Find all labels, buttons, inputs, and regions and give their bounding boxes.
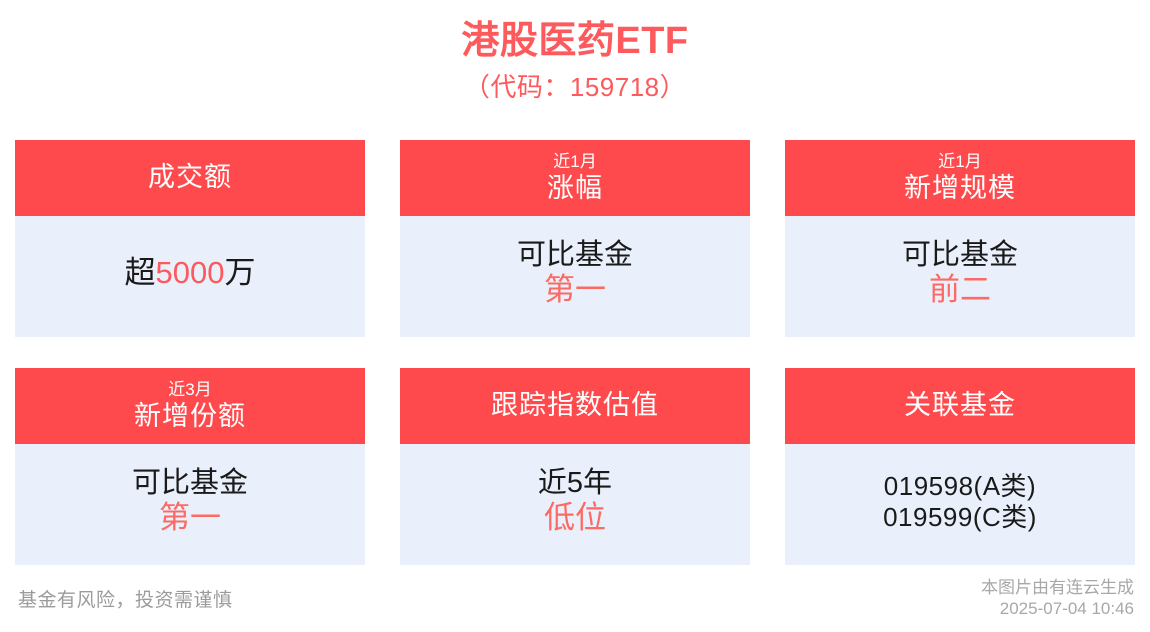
card-body-1m-return: 可比基金 第一 <box>400 216 750 337</box>
page-header: 港股医药ETF （代码：159718） <box>0 0 1150 106</box>
card-header-period: 近1月 <box>553 152 596 172</box>
card-body-index-valuation: 近5年 低位 <box>400 444 750 565</box>
page-subtitle-code: （代码：159718） <box>0 68 1150 106</box>
page-footer: 基金有风险，投资需谨慎 本图片由有连云生成 2025-07-04 10:46 <box>0 572 1150 632</box>
credit-source: 本图片由有连云生成 <box>981 577 1134 598</box>
stat-card-linked-funds: 关联基金 019598(A类) 019599(C类) <box>785 368 1135 565</box>
page-title: 港股医药ETF <box>0 18 1150 64</box>
card-header-index-valuation: 跟踪指数估值 <box>400 368 750 444</box>
card-value-rank: 第一 <box>544 272 606 309</box>
stat-card-turnover: 成交额 超5000万 <box>15 140 365 337</box>
generation-credit: 本图片由有连云生成 2025-07-04 10:46 <box>981 577 1134 620</box>
card-body-3m-share-growth: 可比基金 第一 <box>15 444 365 565</box>
card-header-1m-return: 近1月 涨幅 <box>400 140 750 216</box>
card-header-3m-share-growth: 近3月 新增份额 <box>15 368 365 444</box>
card-body-1m-aum-growth: 可比基金 前二 <box>785 216 1135 337</box>
stat-card-3m-share-growth: 近3月 新增份额 可比基金 第一 <box>15 368 365 565</box>
card-value-rank: 第一 <box>159 500 221 537</box>
card-header-title: 成交额 <box>148 162 232 193</box>
card-body-linked-funds: 019598(A类) 019599(C类) <box>785 444 1135 565</box>
value-highlight: 5000 <box>156 255 225 290</box>
card-header-title: 关联基金 <box>904 390 1016 421</box>
card-header-title: 涨幅 <box>547 173 603 204</box>
card-header-period: 近3月 <box>168 380 211 400</box>
stat-card-grid: 成交额 超5000万 近1月 涨幅 可比基金 第一 近1月 新增规模 可比基金 … <box>15 140 1135 565</box>
risk-disclaimer: 基金有风险，投资需谨慎 <box>18 585 233 612</box>
card-header-title: 新增规模 <box>904 173 1016 204</box>
stat-card-index-valuation: 跟踪指数估值 近5年 低位 <box>400 368 750 565</box>
card-value-label: 近5年 <box>538 466 612 500</box>
card-header-1m-aum-growth: 近1月 新增规模 <box>785 140 1135 216</box>
card-body-turnover: 超5000万 <box>15 216 365 337</box>
value-suffix: 万 <box>224 255 255 290</box>
card-value-rank: 前二 <box>929 272 991 309</box>
stat-card-1m-aum-growth: 近1月 新增规模 可比基金 前二 <box>785 140 1135 337</box>
card-header-title: 跟踪指数估值 <box>491 390 659 421</box>
card-value-label: 可比基金 <box>132 466 248 500</box>
card-value-label: 可比基金 <box>902 238 1018 272</box>
card-value-label: 可比基金 <box>517 238 633 272</box>
card-value-turnover: 超5000万 <box>125 255 256 292</box>
value-prefix: 超 <box>125 255 156 290</box>
card-header-title: 新增份额 <box>134 401 246 432</box>
card-header-turnover: 成交额 <box>15 140 365 216</box>
card-header-linked-funds: 关联基金 <box>785 368 1135 444</box>
credit-timestamp: 2025-07-04 10:46 <box>981 598 1134 619</box>
linked-fund-code-a: 019598(A类) <box>884 471 1036 502</box>
linked-fund-code-c: 019599(C类) <box>883 502 1037 533</box>
card-header-period: 近1月 <box>938 152 981 172</box>
stat-card-1m-return: 近1月 涨幅 可比基金 第一 <box>400 140 750 337</box>
card-value-rank: 低位 <box>544 500 606 537</box>
